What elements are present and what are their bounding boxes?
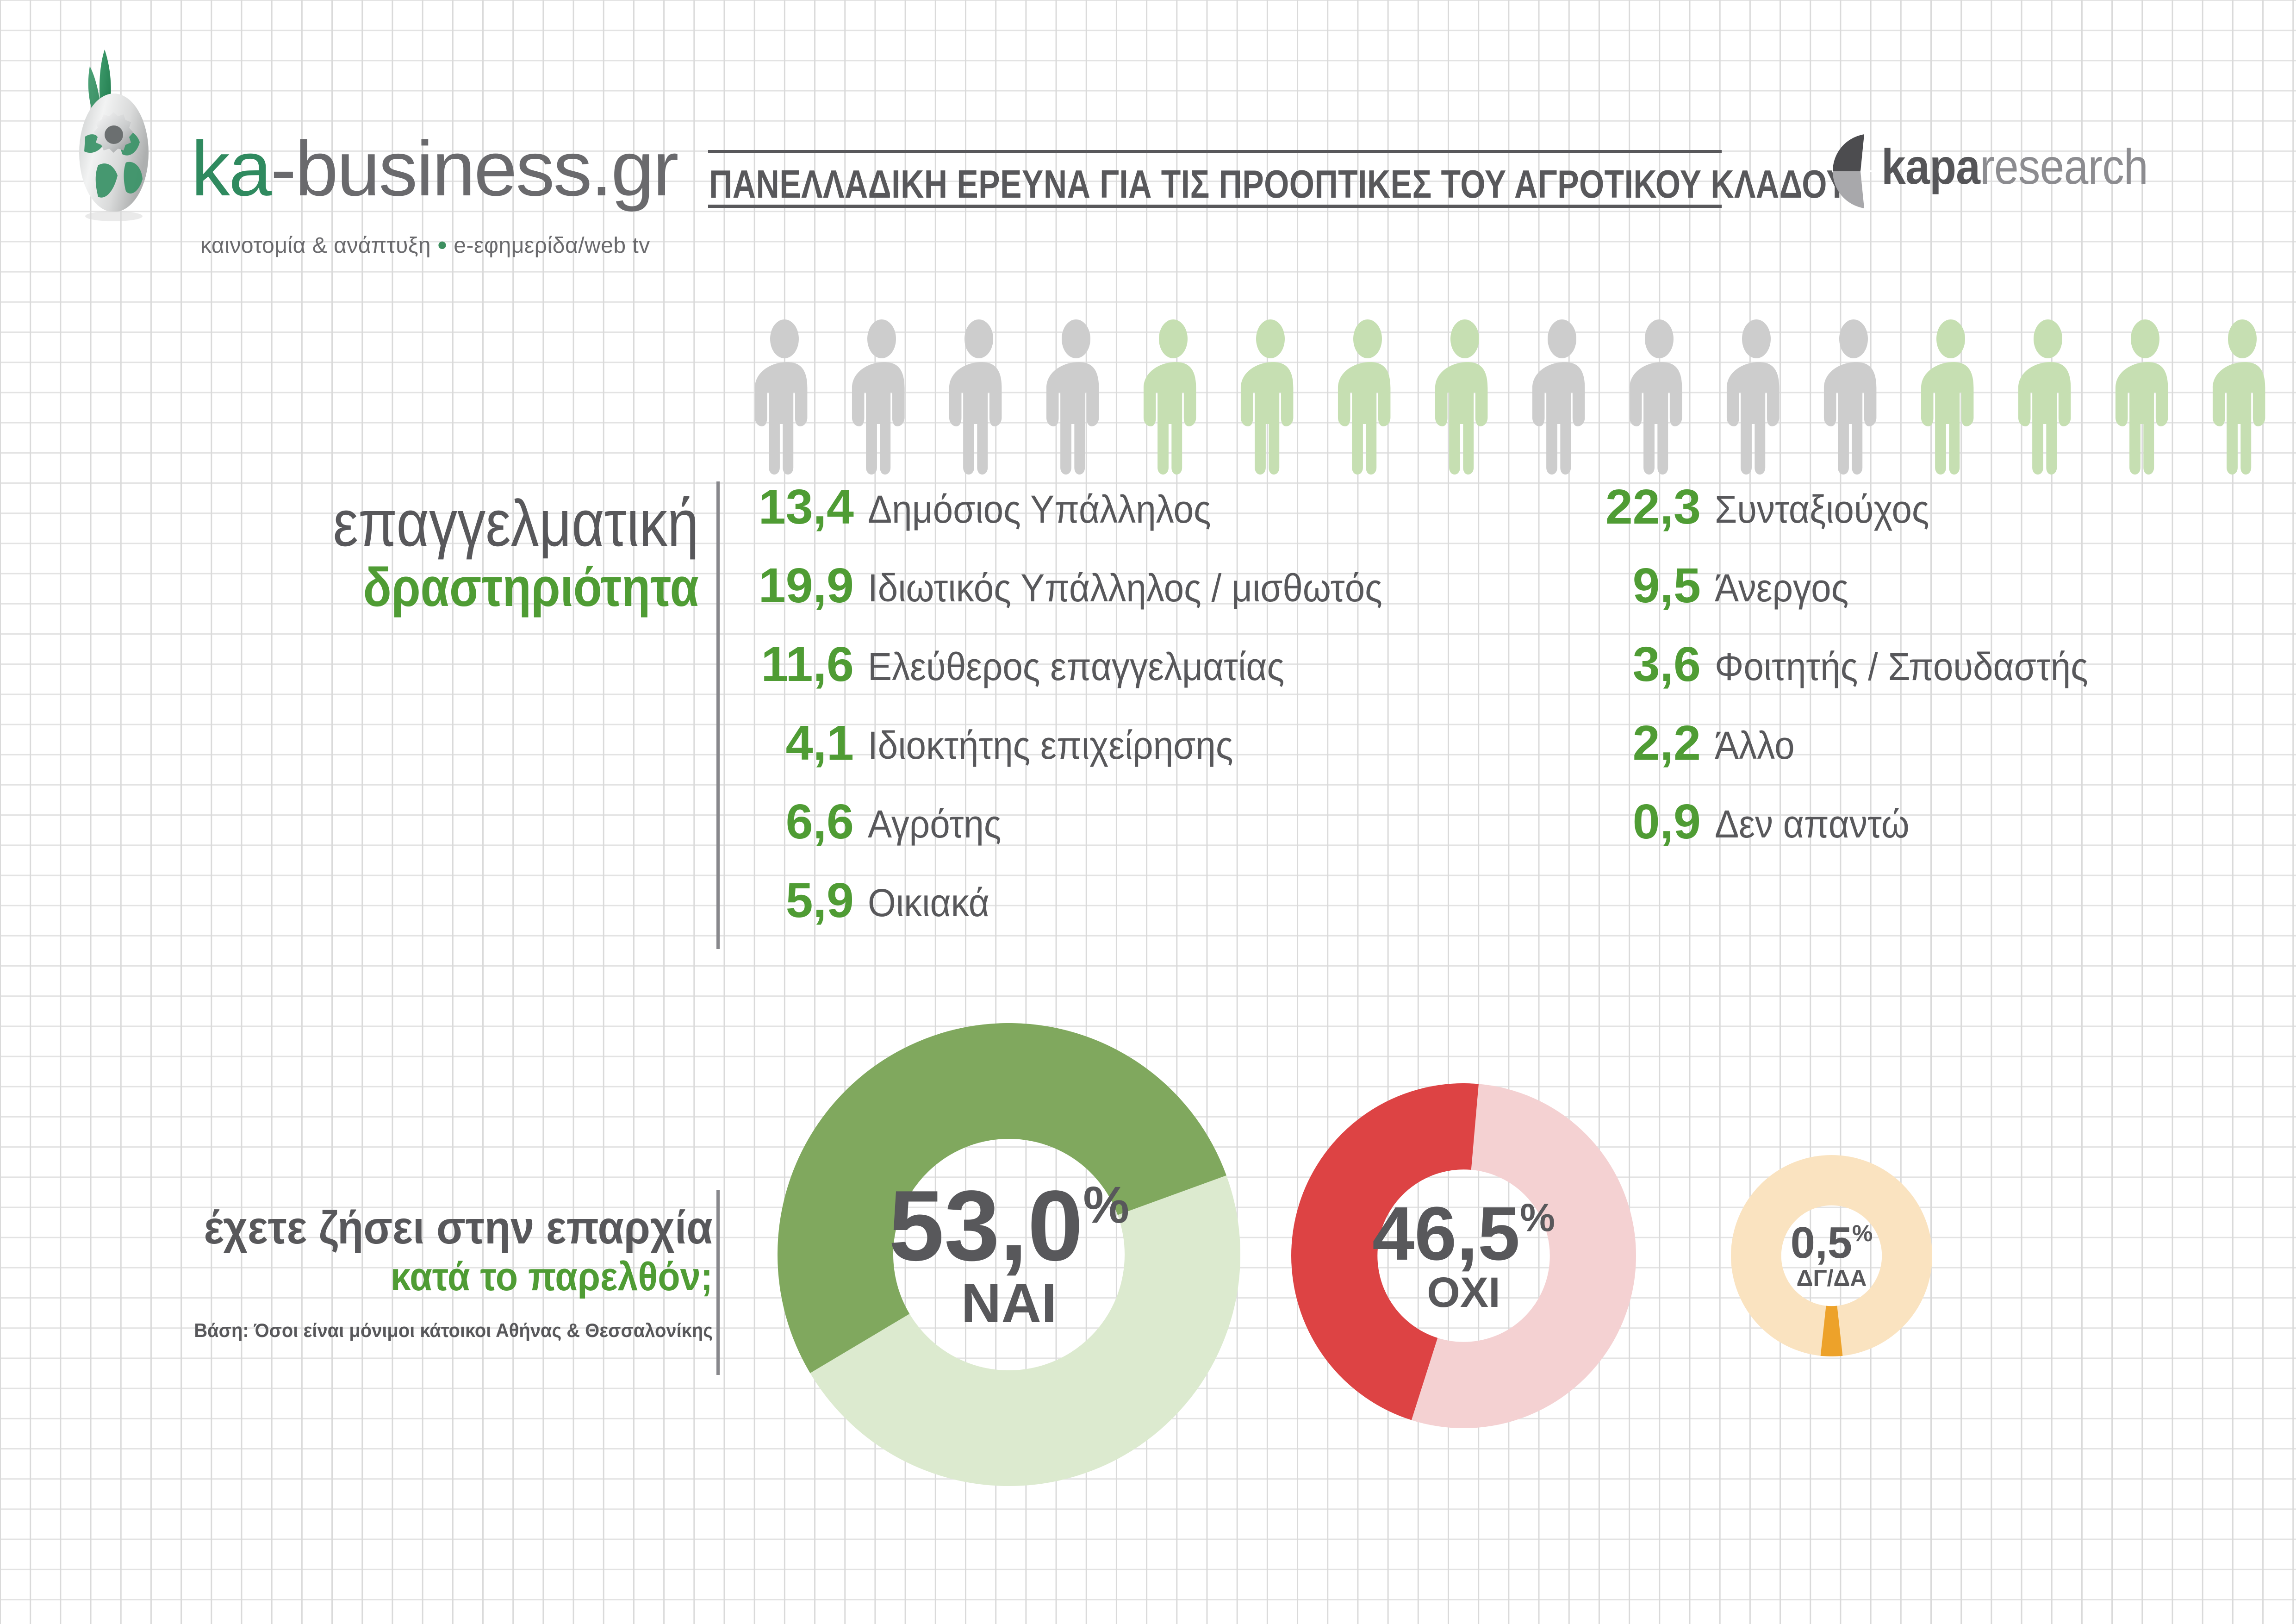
province-question-section: έχετε ζήσει στην επαρχία κατά το παρελθό… [0, 1005, 2296, 1606]
person-icon [2018, 319, 2078, 475]
occupation-value: 6,6 [740, 796, 854, 848]
kapa-research-wordmark: kaparesearch [1881, 142, 2148, 192]
occupation-value: 4,1 [740, 718, 854, 769]
occupation-row: 22,3Συνταξιούχος [1587, 481, 2282, 560]
tagline-right: e-εφημερίδα/web tv [454, 233, 650, 258]
occupation-value: 19,9 [740, 560, 854, 612]
occupation-value: 11,6 [740, 639, 854, 690]
person-icon [1435, 319, 1495, 475]
occupation-row: 3,6Φοιτητής / Σπουδαστής [1587, 639, 2282, 718]
logo-name-rest: -business.gr [270, 125, 677, 212]
province-question-heading: έχετε ζήσει στην επαρχία κατά το παρελθό… [106, 1204, 713, 1302]
person-icon [1921, 319, 1981, 475]
occupation-label: Φοιτητής / Σπουδαστής [1715, 645, 2088, 688]
occupation-label: Δημόσιος Υπάλληλος [868, 488, 1211, 531]
logo-tagline: καινοτομία & ανάπτυξη • e-εφημερίδα/web … [200, 229, 650, 261]
occupation-heading-line2: δραστηριότητα [154, 556, 699, 619]
occupation-label: Οικιακά [868, 881, 989, 924]
infographic-page: ka-business.gr καινοτομία & ανάπτυξη • e… [0, 0, 2296, 1624]
province-question-line1: έχετε ζήσει στην επαρχία [155, 1204, 713, 1252]
person-icon [1726, 319, 1786, 475]
occupation-heading: επαγγελματική δραστηριότητα [65, 491, 699, 619]
kapa-word: kapa [1881, 138, 1980, 194]
occupation-row: 0,9Δεν απαντώ [1587, 796, 2282, 875]
occupation-value: 9,5 [1587, 560, 1701, 612]
tagline-left: καινοτομία & ανάπτυξη [200, 233, 431, 258]
occupation-row: 5,9Οικιακά [740, 875, 1555, 954]
logo-name-accent: ka [191, 125, 270, 212]
occupation-column-right: 22,3Συνταξιούχος9,5Άνεργος3,6Φοιτητής / … [1587, 481, 2282, 875]
occupation-value: 2,2 [1587, 718, 1701, 769]
header-title-block: ΠΑΝΕΛΛΑΔΙΚΗ ΕΡΕΥΝΑ ΓΙΑ ΤΙΣ ΠΡΟΟΠΤΙΚΕΣ ΤΟ… [708, 139, 1740, 218]
occupation-list: 13,4Δημόσιος Υπάλληλος19,9Ιδιωτικός Υπάλ… [740, 481, 2286, 949]
tagline-bullet-icon: • [437, 230, 448, 261]
donut-yes-ring [778, 1023, 1240, 1486]
donut-chart-yes: 53,0% ΝΑΙ [778, 1023, 1240, 1486]
header-rule-bottom [708, 205, 1722, 208]
donut-dontknow-ring [1731, 1155, 1932, 1356]
kapa-crescent-icon [1833, 134, 1877, 208]
person-icon [1823, 319, 1884, 475]
occupation-value: 0,9 [1587, 796, 1701, 848]
occupation-label: Άλλο [1715, 724, 1795, 767]
occupation-label: Δεν απαντώ [1715, 803, 1910, 845]
occupation-value: 13,4 [740, 481, 854, 533]
person-icon [1240, 319, 1300, 475]
occupation-row: 11,6Ελεύθερος επαγγελματίας [740, 639, 1555, 718]
globe-sprout-icon [78, 44, 184, 225]
occupation-label: Ελεύθερος επαγγελματίας [868, 645, 1284, 688]
pictogram-people-row [754, 319, 2277, 477]
occupation-row: 19,9Ιδιωτικός Υπάλληλος / μισθωτός [740, 560, 1555, 639]
person-icon [2212, 319, 2272, 475]
person-icon [1532, 319, 1592, 475]
occupation-label: Αγρότης [868, 803, 1001, 845]
province-question-base-note: Βάση: Όσοι είναι μόνιμοι κάτοικοι Αθήνας… [137, 1319, 713, 1342]
donut-no-ring [1291, 1083, 1636, 1428]
occupation-row: 2,2Άλλο [1587, 718, 2282, 796]
occupation-label: Ιδιοκτήτης επιχείρησης [868, 724, 1233, 767]
province-question-divider [716, 1190, 720, 1375]
occupation-row: 6,6Αγρότης [740, 796, 1555, 875]
person-icon [949, 319, 1009, 475]
occupation-label: Άνεργος [1715, 567, 1848, 609]
province-question-line2: κατά το παρελθόν; [155, 1252, 713, 1302]
person-icon [2115, 319, 2175, 475]
donut-chart-dontknow: 0,5% ΔΓ/ΔΑ [1731, 1155, 1932, 1356]
ka-business-logo[interactable]: ka-business.gr καινοτομία & ανάπτυξη • e… [68, 44, 661, 229]
occupation-value: 22,3 [1587, 481, 1701, 533]
page-title: ΠΑΝΕΛΛΑΔΙΚΗ ΕΡΕΥΝΑ ΓΙΑ ΤΙΣ ΠΡΟΟΠΤΙΚΕΣ ΤΟ… [709, 162, 1848, 207]
occupation-value: 5,9 [740, 875, 854, 926]
donut-chart-no: 46,5% ΟΧΙ [1291, 1083, 1636, 1428]
person-icon [1143, 319, 1203, 475]
kapa-research-logo[interactable]: kaparesearch [1833, 130, 2198, 213]
occupation-row: 9,5Άνεργος [1587, 560, 2282, 639]
occupation-value: 3,6 [1587, 639, 1701, 690]
occupation-divider [716, 481, 720, 949]
occupation-row: 4,1Ιδιοκτήτης επιχείρησης [740, 718, 1555, 796]
person-icon [1046, 319, 1106, 475]
header: ka-business.gr καινοτομία & ανάπτυξη • e… [0, 0, 2296, 245]
person-icon [754, 319, 815, 475]
header-rule-top [708, 150, 1722, 153]
occupation-row: 13,4Δημόσιος Υπάλληλος [740, 481, 1555, 560]
occupation-section: επαγγελματική δραστηριότητα 13,4Δημόσιος… [65, 481, 2268, 972]
occupation-heading-line1: επαγγελματική [154, 491, 699, 556]
research-word: research [1980, 138, 2148, 194]
person-icon [852, 319, 912, 475]
occupation-label: Συνταξιούχος [1715, 488, 1929, 531]
person-icon [1338, 319, 1398, 475]
person-icon [1629, 319, 1689, 475]
occupation-column-left: 13,4Δημόσιος Υπάλληλος19,9Ιδιωτικός Υπάλ… [740, 481, 1555, 954]
logo-wordmark: ka-business.gr [191, 130, 678, 207]
occupation-label: Ιδιωτικός Υπάλληλος / μισθωτός [868, 567, 1382, 609]
